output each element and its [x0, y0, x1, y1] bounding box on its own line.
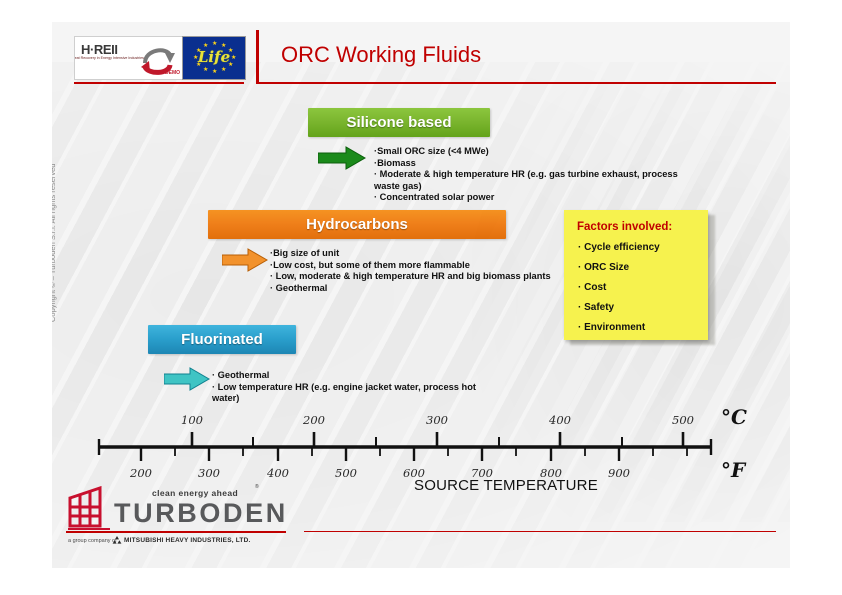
category-header-silicone: Silicone based: [308, 108, 490, 137]
list-item: · ORC Size: [578, 262, 703, 273]
eu-star-icon: ★: [203, 67, 208, 73]
axis-tick-label-c: 400: [549, 413, 571, 427]
list-item: · Environment: [578, 322, 703, 333]
eu-star-icon: ★: [221, 67, 226, 73]
eu-life-logo: ★ ★ ★ ★ ★ ★ ★ ★ ★ ★ ★ ★ Life: [182, 36, 246, 80]
footer-divider-short: [66, 531, 286, 533]
bullets-hydrocarbons: ·Big size of unit ·Low cost, but some of…: [270, 248, 570, 294]
header-divider: [74, 82, 244, 84]
hreii-demo-logo: H·REII Heat Recovery in Energy Intensive…: [74, 36, 184, 80]
page-title: ORC Working Fluids: [281, 42, 481, 68]
slide-footer: clean energy ahead ® TURBODEN a group co…: [52, 478, 790, 568]
arrow-fluorinated-icon: [164, 367, 210, 391]
hreii-logo-text: H·REII: [81, 42, 118, 57]
arrow-silicone-icon: [318, 146, 366, 170]
mitsubishi-three-diamonds-icon: [112, 536, 122, 545]
list-item: · Safety: [578, 302, 703, 313]
eu-star-icon: ★: [212, 69, 217, 75]
list-item: · Cost: [578, 282, 703, 293]
eu-star-icon: ★: [212, 41, 217, 47]
hreii-demo-badge: DEMO: [165, 70, 180, 76]
turboden-mark-icon: [66, 486, 114, 532]
list-item: · Cycle efficiency: [578, 242, 703, 253]
axis-tick-label-c: 100: [181, 413, 203, 427]
category-header-hydrocarbons: Hydrocarbons: [208, 210, 506, 239]
registered-mark: ®: [255, 484, 259, 490]
temperature-axis: 100 200 300 400 500: [92, 400, 722, 490]
turboden-wordmark: TURBODEN: [114, 498, 288, 529]
axis-tick-label-c: 500: [672, 413, 694, 427]
axis-unit-celsius: °C: [721, 405, 747, 429]
axis-ruler: [92, 430, 722, 464]
group-company-prefix: a group company of: [68, 538, 117, 544]
category-header-fluorinated: Fluorinated: [148, 325, 296, 354]
footer-divider-long: [304, 531, 776, 532]
sticky-note-title: Factors involved:: [577, 221, 672, 233]
arrow-hydrocarbons-icon: [222, 248, 268, 272]
turboden-tagline: clean energy ahead: [152, 488, 238, 498]
sticky-note-list: · Cycle efficiency · ORC Size · Cost · S…: [578, 242, 703, 342]
title-box: ORC Working Fluids: [256, 30, 776, 84]
axis-tick-label-c: 300: [426, 413, 448, 427]
sticky-note-factors: Factors involved: · Cycle efficiency · O…: [564, 210, 708, 340]
hreii-logo-subtitle: Heat Recovery in Energy Intensive Indust…: [74, 56, 145, 61]
copyright-notice: Copyright © – Turboden S.r.l. All rights…: [52, 163, 57, 322]
life-logo-text: Life: [183, 48, 245, 66]
parent-company-name: MITSUBISHI HEAVY INDUSTRIES, LTD.: [124, 537, 251, 544]
slide-header: H·REII Heat Recovery in Energy Intensive…: [52, 22, 790, 92]
slide-canvas: H·REII Heat Recovery in Energy Intensive…: [52, 22, 790, 568]
axis-tick-label-c: 200: [303, 413, 325, 427]
bullets-silicone: ·Small ORC size (<4 MWe) ·Biomass · Mode…: [374, 146, 684, 204]
